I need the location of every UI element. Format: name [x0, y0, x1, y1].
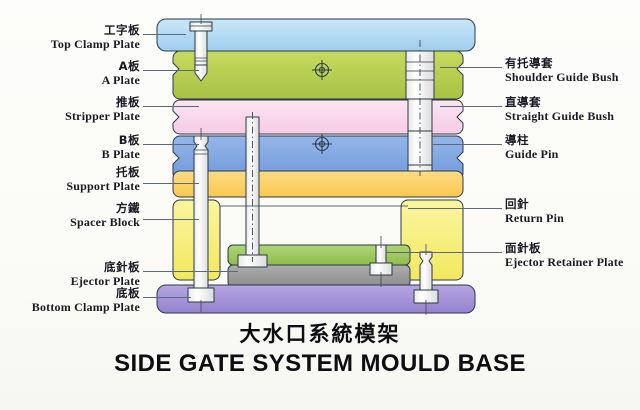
label-cn: 直導套	[505, 94, 614, 110]
part-guide-pin-tip	[408, 165, 432, 171]
leader-shoulder-guide-bush	[440, 67, 502, 68]
label-en: B Plate	[4, 147, 140, 162]
label-en: Shoulder Guide Bush	[505, 70, 619, 85]
diagram-title: 大水口系統模架 SIDE GATE SYSTEM MOULD BASE	[0, 318, 640, 378]
label-cn: 工字板	[4, 22, 140, 38]
label-a-plate: A板 A Plate	[4, 58, 140, 88]
label-stripper-plate: 推板 Stripper Plate	[4, 94, 140, 124]
leader-a-plate	[143, 70, 199, 71]
label-b-plate: B板 B Plate	[4, 132, 140, 162]
leader-ejector-plate	[143, 271, 238, 272]
label-en: A Plate	[4, 73, 140, 88]
label-cn: A板	[4, 58, 140, 74]
label-cn: 底針板	[4, 259, 140, 275]
label-cn: 導柱	[505, 132, 558, 148]
label-support-plate: 托板 Support Plate	[4, 164, 140, 194]
label-en: Spacer Block	[4, 215, 140, 230]
leader-spacer-block	[143, 219, 199, 220]
label-bottom-clamp-plate: 底板 Bottom Clamp Plate	[4, 285, 140, 315]
label-guide-pin: 導柱 Guide Pin	[505, 132, 558, 162]
diagram-canvas: 工字板 Top Clamp Plate A板 A Plate 推板 Stripp…	[0, 0, 640, 410]
label-en: Support Plate	[4, 179, 140, 194]
part-support-plate	[173, 171, 463, 197]
leader-top-clamp-plate	[143, 34, 186, 35]
label-en: Return Pin	[505, 211, 564, 226]
label-en: Straight Guide Bush	[505, 109, 614, 124]
label-straight-guide-bush: 直導套 Straight Guide Bush	[505, 94, 614, 124]
title-english: SIDE GATE SYSTEM MOULD BASE	[0, 350, 640, 378]
leader-ejector-retainer-plate	[386, 252, 502, 253]
label-cn: 托板	[4, 164, 140, 180]
leader-guide-pin	[432, 144, 502, 145]
title-chinese: 大水口系統模架	[0, 318, 640, 348]
label-cn: 回針	[505, 196, 564, 212]
leader-bottom-clamp-plate	[143, 297, 191, 298]
label-ejector-retainer-plate: 面針板 Ejector Retainer Plate	[505, 240, 624, 270]
leader-stripper-plate	[143, 106, 199, 107]
guide-pin-assembly	[406, 40, 434, 176]
label-cn: 底板	[4, 285, 140, 301]
label-shoulder-guide-bush: 有托導套 Shoulder Guide Bush	[505, 55, 619, 85]
leader-return-pin	[408, 208, 502, 209]
label-en: Ejector Retainer Plate	[505, 255, 624, 270]
label-en: Top Clamp Plate	[4, 37, 140, 52]
label-cn: 有托導套	[505, 55, 619, 71]
label-en: Guide Pin	[505, 147, 558, 162]
label-top-clamp-plate: 工字板 Top Clamp Plate	[4, 22, 140, 52]
label-cn: B板	[4, 132, 140, 148]
label-return-pin: 回針 Return Pin	[505, 196, 564, 226]
leader-straight-guide-bush	[440, 106, 502, 107]
label-en: Bottom Clamp Plate	[4, 300, 140, 315]
leader-support-plate	[143, 183, 199, 184]
label-cn: 面針板	[505, 240, 624, 256]
leader-b-plate	[143, 144, 199, 145]
label-spacer-block: 方鐵 Spacer Block	[4, 200, 140, 230]
label-cn: 方鐵	[4, 200, 140, 216]
label-en: Stripper Plate	[4, 109, 140, 124]
label-cn: 推板	[4, 94, 140, 110]
